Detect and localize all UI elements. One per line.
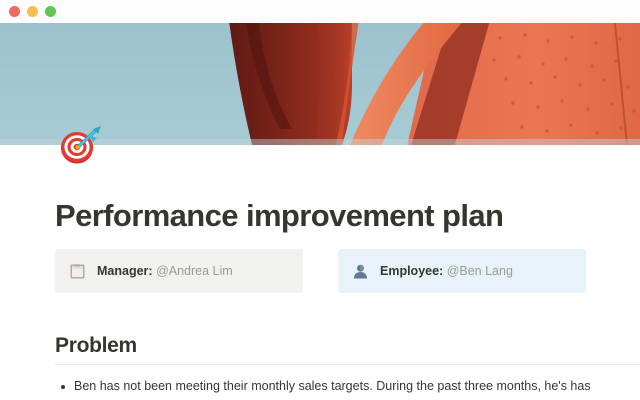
page-title[interactable]: Performance improvement plan bbox=[55, 198, 503, 234]
close-button[interactable] bbox=[9, 6, 20, 17]
section-heading-problem[interactable]: Problem bbox=[55, 334, 137, 358]
window-titlebar bbox=[0, 0, 640, 23]
section-divider bbox=[55, 364, 640, 365]
callout-row: Manager: @Andrea Lim Employee: @Ben Lang bbox=[55, 249, 586, 293]
list-item-text: Ben has not been meeting their monthly s… bbox=[74, 378, 591, 395]
minimize-button[interactable] bbox=[27, 6, 38, 17]
dart-board-icon[interactable] bbox=[55, 118, 103, 166]
callout-manager[interactable]: Manager: @Andrea Lim bbox=[55, 249, 303, 293]
list-item[interactable]: Ben has not been meeting their monthly s… bbox=[55, 378, 640, 395]
callout-employee-text: Employee: @Ben Lang bbox=[380, 265, 513, 278]
bullet-list: Ben has not been meeting their monthly s… bbox=[55, 378, 640, 395]
bullet-dot-icon bbox=[61, 385, 65, 389]
callout-employee-label: Employee: bbox=[380, 264, 443, 278]
callout-manager-text: Manager: @Andrea Lim bbox=[97, 265, 233, 278]
page-body: Performance improvement plan Manager: @A… bbox=[0, 145, 640, 400]
callout-employee-mention[interactable]: @Ben Lang bbox=[447, 264, 513, 278]
traffic-light-group bbox=[0, 6, 56, 17]
bust-in-silhouette-icon bbox=[352, 263, 369, 280]
callout-manager-label: Manager: bbox=[97, 264, 153, 278]
callout-manager-mention[interactable]: @Andrea Lim bbox=[156, 264, 233, 278]
maximize-button[interactable] bbox=[45, 6, 56, 17]
callout-employee[interactable]: Employee: @Ben Lang bbox=[338, 249, 586, 293]
clipboard-icon bbox=[69, 263, 86, 280]
